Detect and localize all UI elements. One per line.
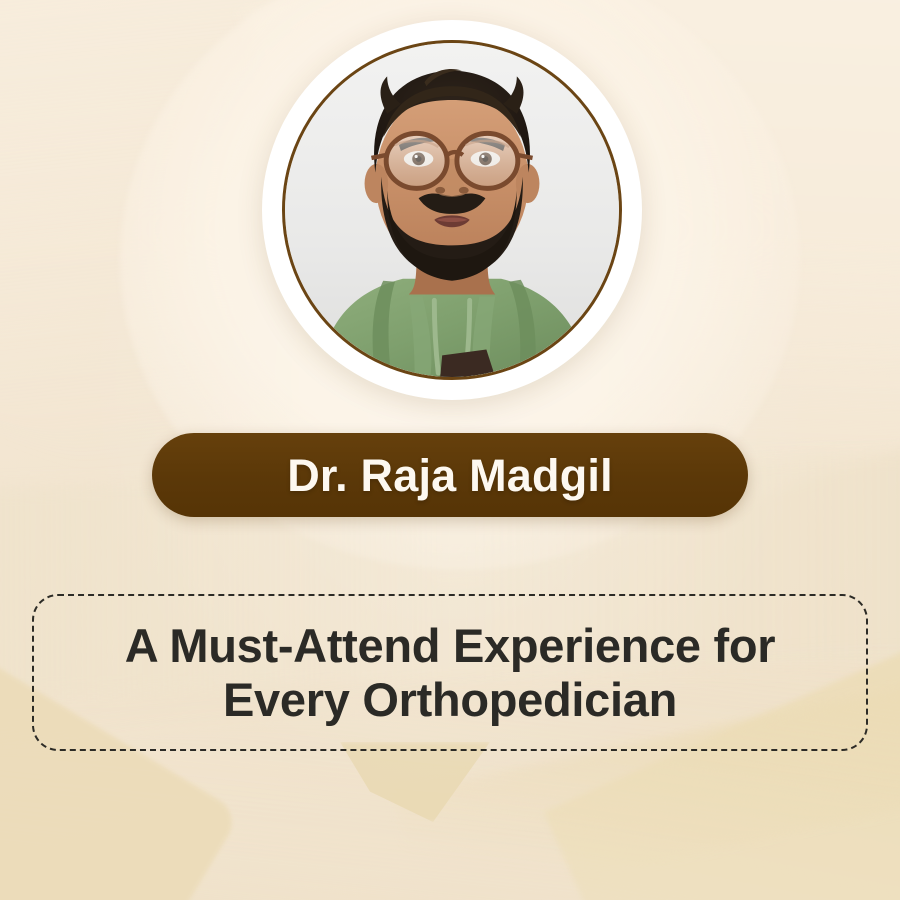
- avatar-photo: [285, 43, 619, 377]
- name-badge-label: Dr. Raja Madgil: [287, 453, 613, 498]
- headline-box: A Must-Attend Experience for Every Ortho…: [32, 594, 868, 751]
- poster-canvas: Dr. Raja Madgil A Must-Attend Experience…: [0, 0, 900, 900]
- headline-line-2: Every Orthopedician: [223, 673, 677, 727]
- headline-line-1: A Must-Attend Experience for: [125, 619, 776, 673]
- avatar: [262, 20, 642, 400]
- name-badge: Dr. Raja Madgil: [152, 433, 748, 517]
- avatar-ring: [282, 40, 622, 380]
